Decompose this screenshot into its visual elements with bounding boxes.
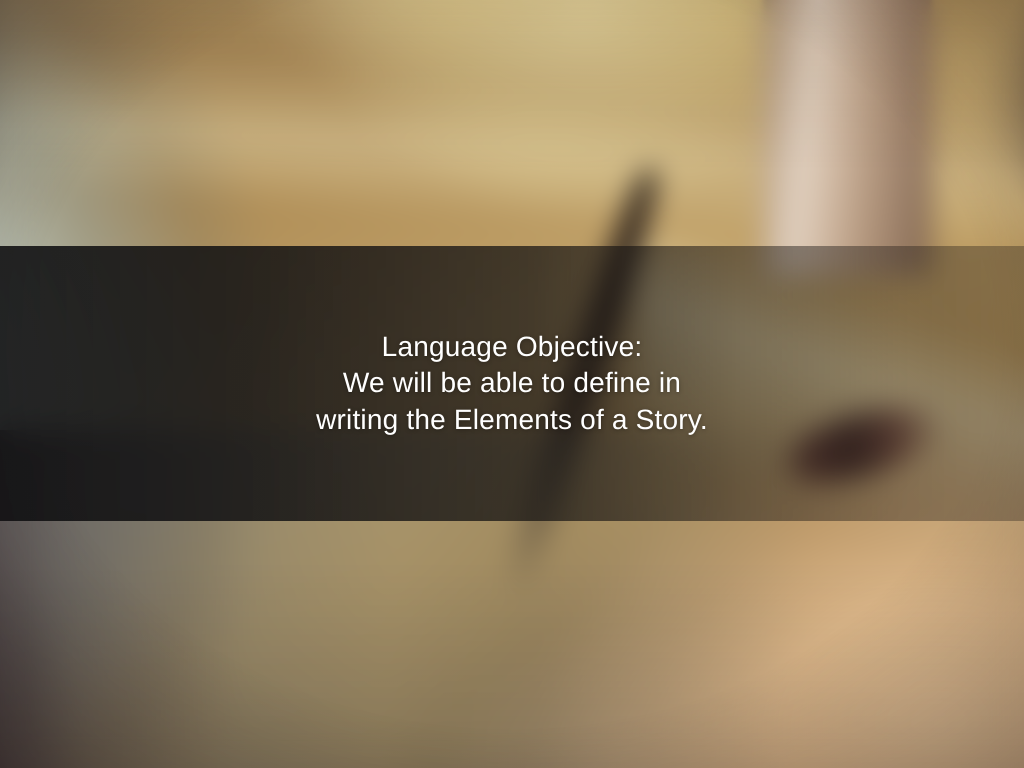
objective-line-3: writing the Elements of a Story. xyxy=(12,402,1012,438)
slide-canvas: Language Objective: We will be able to d… xyxy=(0,0,1024,768)
objective-line-2: We will be able to define in xyxy=(12,365,1012,401)
objective-line-1: Language Objective: xyxy=(12,329,1012,365)
metal-bottle xyxy=(763,0,932,276)
objective-text: Language Objective: We will be able to d… xyxy=(0,329,1024,438)
caption-band: Language Objective: We will be able to d… xyxy=(0,246,1024,521)
